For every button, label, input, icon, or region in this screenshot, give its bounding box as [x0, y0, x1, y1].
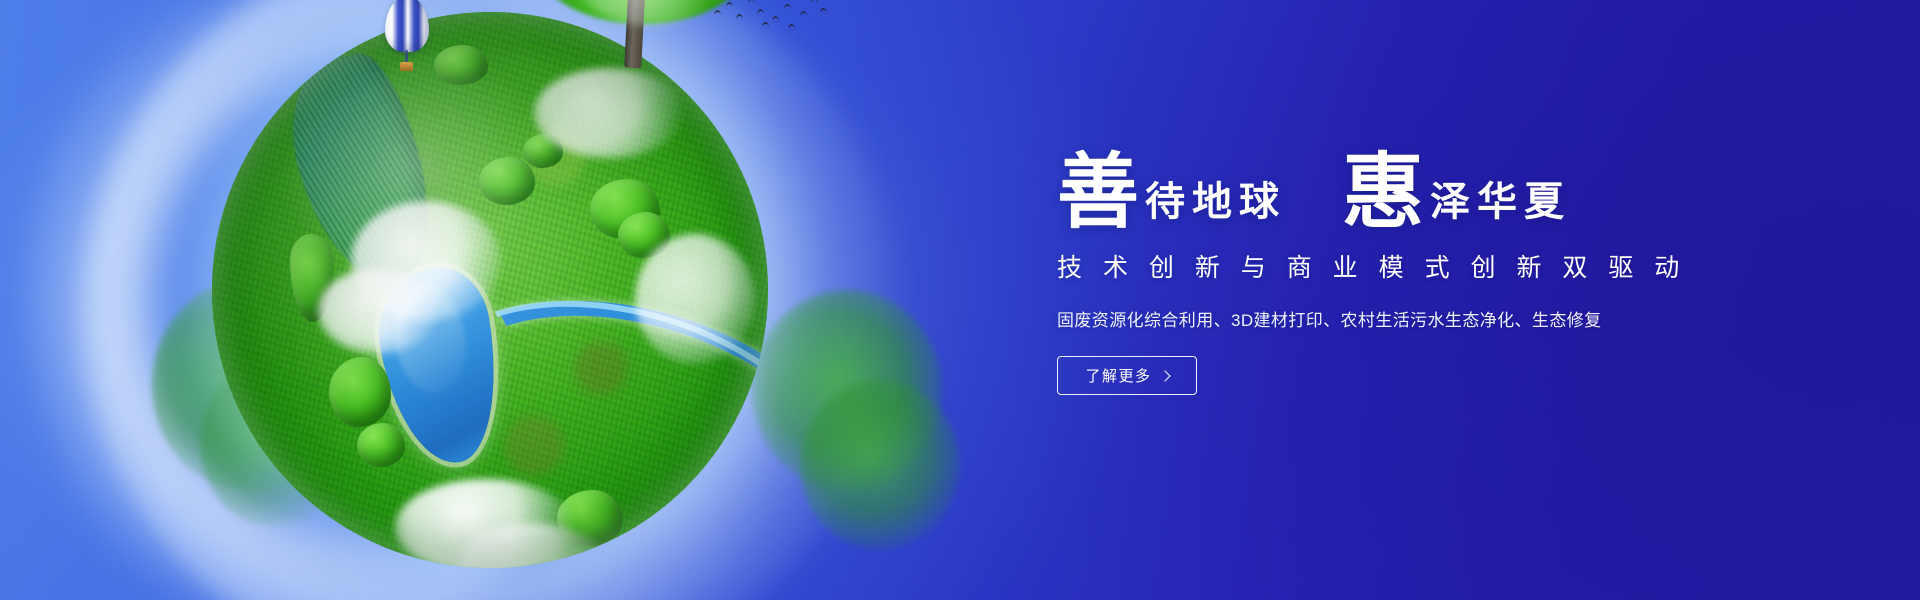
- learn-more-button[interactable]: 了解更多: [1057, 356, 1197, 395]
- hero-subtitle: 技 术 创 新 与 商 业 模 式 创 新 双 驱 动: [1057, 248, 1817, 284]
- hero-banner: 善 待地球 惠 泽华夏 技 术 创 新 与 商 业 模 式 创 新 双 驱 动 …: [0, 0, 1920, 600]
- green-globe-icon: [212, 12, 768, 568]
- tiny-planet-artwork: [140, 0, 840, 600]
- page-title: 善 待地球 惠 泽华夏: [1057, 140, 1817, 232]
- hot-air-balloon-icon: [385, 0, 429, 74]
- balloon-envelope: [385, 0, 429, 52]
- globe-rim-light: [212, 12, 768, 568]
- balloon-basket: [400, 62, 413, 71]
- chevron-right-icon: [1159, 370, 1170, 381]
- tree-silhouette-right-2-icon: [800, 380, 960, 550]
- bird-flock-icon: [712, 0, 832, 40]
- headline-rest-1: 待地球: [1145, 182, 1286, 232]
- hero-content: 善 待地球 惠 泽华夏 技 术 创 新 与 商 业 模 式 创 新 双 驱 动 …: [1057, 140, 1817, 395]
- headline-rest-2: 泽华夏: [1430, 182, 1571, 232]
- headline-char-2: 惠: [1342, 153, 1424, 232]
- headline-char-1: 善: [1057, 153, 1139, 232]
- learn-more-label: 了解更多: [1085, 365, 1151, 386]
- hero-description: 固废资源化综合利用、3D建材打印、农村生活污水生态净化、生态修复: [1057, 306, 1817, 331]
